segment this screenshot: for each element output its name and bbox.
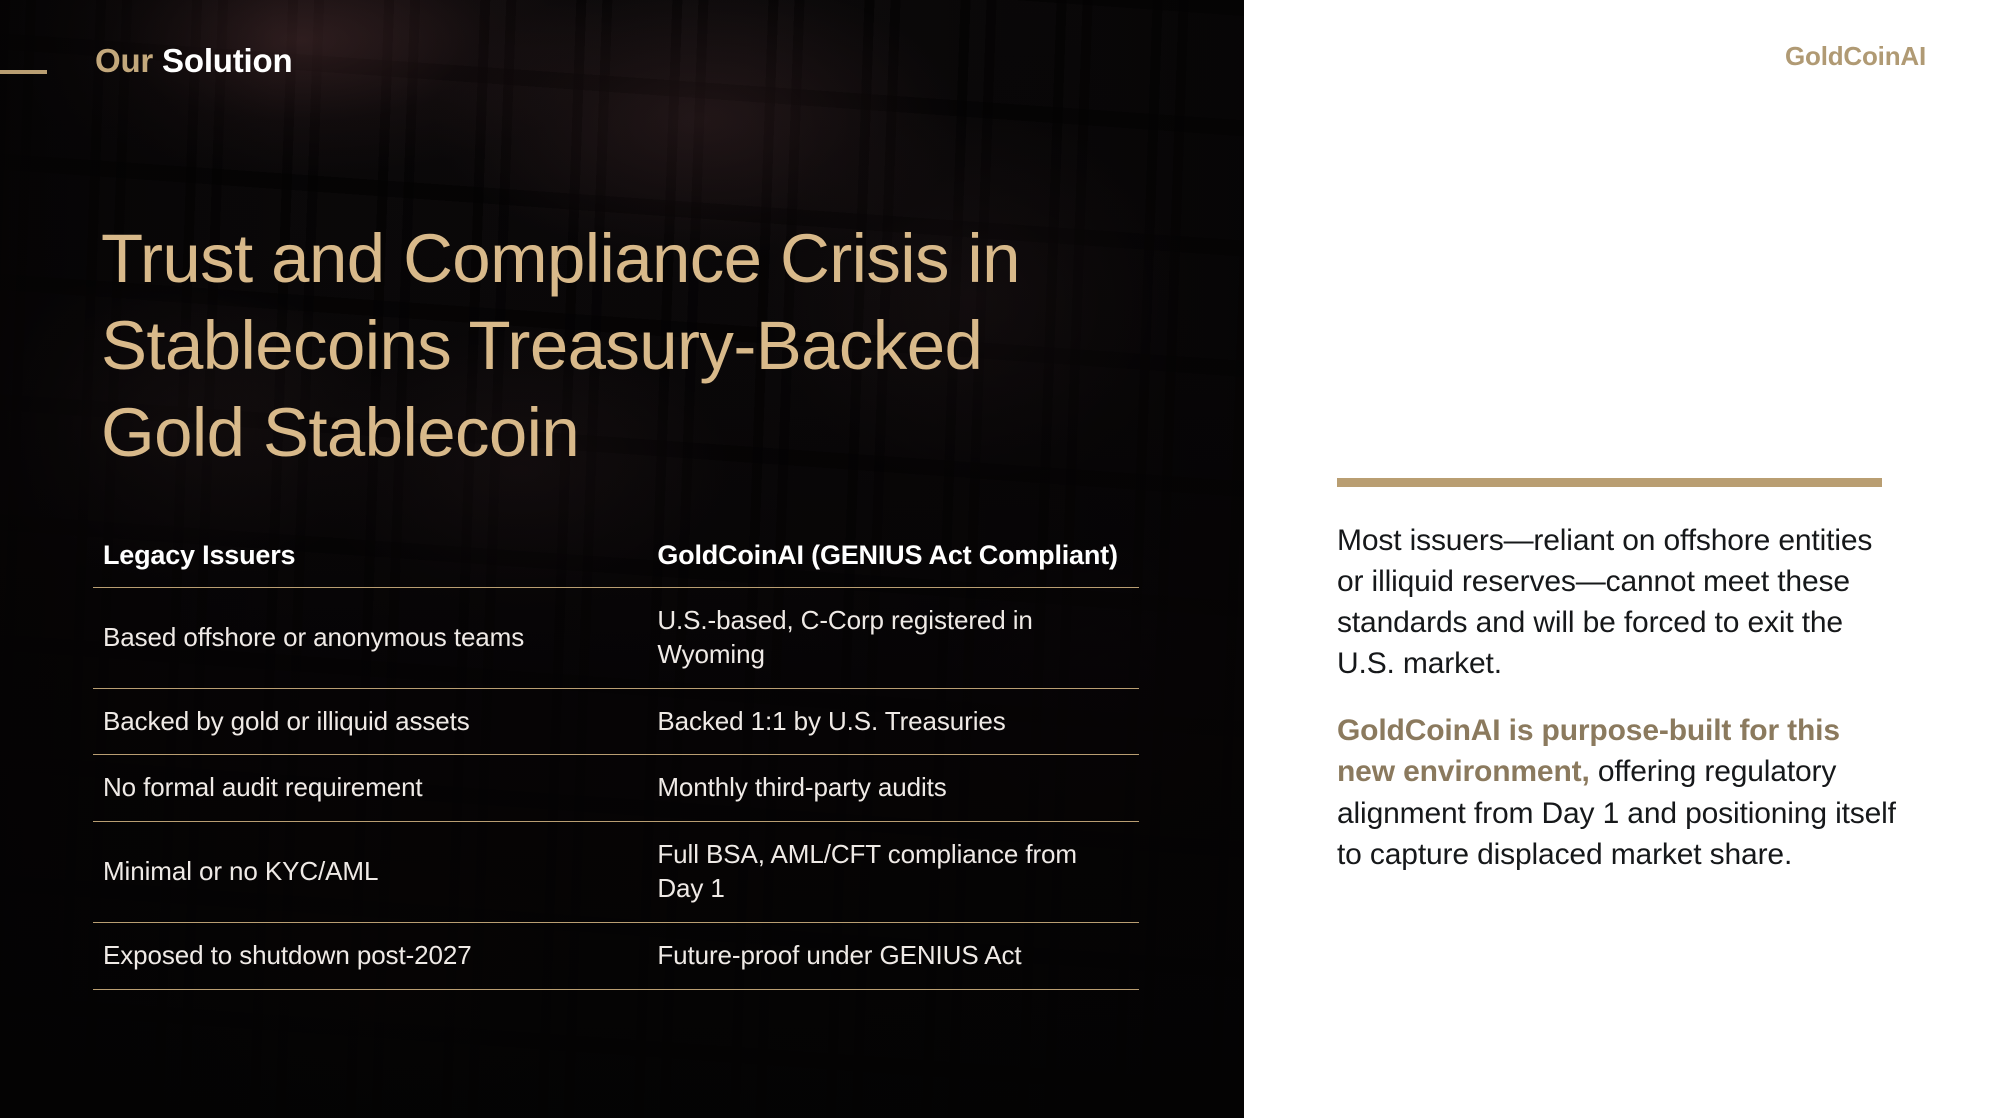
paragraph-positioning: GoldCoinAI is purpose-built for this new… xyxy=(1337,710,1897,874)
left-photo-panel: Our Solution Trust and Compliance Crisis… xyxy=(0,0,1244,1118)
table-row: Backed by gold or illiquid assets Backed… xyxy=(93,688,1139,755)
eyebrow-label: Our Solution xyxy=(95,42,292,80)
table-header-row: Legacy Issuers GoldCoinAI (GENIUS Act Co… xyxy=(93,540,1139,588)
cell-legacy: Exposed to shutdown post-2027 xyxy=(93,922,647,989)
table-row: Based offshore or anonymous teams U.S.-b… xyxy=(93,588,1139,689)
cell-legacy: Backed by gold or illiquid assets xyxy=(93,688,647,755)
table-row: No formal audit requirement Monthly thir… xyxy=(93,755,1139,822)
slide-root: Our Solution Trust and Compliance Crisis… xyxy=(0,0,1994,1118)
gold-accent-bar xyxy=(1337,478,1882,487)
eyebrow-gold-word: Our xyxy=(95,42,153,79)
cell-goldcoinai: Future-proof under GENIUS Act xyxy=(647,922,1139,989)
cell-legacy: No formal audit requirement xyxy=(93,755,647,822)
column-header-goldcoinai: GoldCoinAI (GENIUS Act Compliant) xyxy=(647,540,1139,588)
cell-goldcoinai: Backed 1:1 by U.S. Treasuries xyxy=(647,688,1139,755)
comparison-table: Legacy Issuers GoldCoinAI (GENIUS Act Co… xyxy=(93,540,1139,990)
eyebrow-rule xyxy=(0,70,47,74)
cell-goldcoinai: U.S.-based, C-Corp registered in Wyoming xyxy=(647,588,1139,689)
left-content: Our Solution Trust and Compliance Crisis… xyxy=(0,0,1244,1118)
cell-legacy: Based offshore or anonymous teams xyxy=(93,588,647,689)
eyebrow-white-word: Solution xyxy=(162,42,292,79)
page-title: Trust and Compliance Crisis in Stablecoi… xyxy=(101,216,1111,477)
right-content-panel: GoldCoinAI Most issuers—reliant on offsh… xyxy=(1244,0,1994,1118)
column-header-legacy: Legacy Issuers xyxy=(93,540,647,588)
body-copy: Most issuers—reliant on offshore entitie… xyxy=(1337,520,1897,875)
cell-goldcoinai: Monthly third-party audits xyxy=(647,755,1139,822)
brand-logo: GoldCoinAI xyxy=(1785,41,1926,72)
cell-legacy: Minimal or no KYC/AML xyxy=(93,822,647,923)
table-row: Minimal or no KYC/AML Full BSA, AML/CFT … xyxy=(93,822,1139,923)
table-row: Exposed to shutdown post-2027 Future-pro… xyxy=(93,922,1139,989)
cell-goldcoinai: Full BSA, AML/CFT compliance from Day 1 xyxy=(647,822,1139,923)
paragraph-market-exit: Most issuers—reliant on offshore entitie… xyxy=(1337,520,1897,684)
